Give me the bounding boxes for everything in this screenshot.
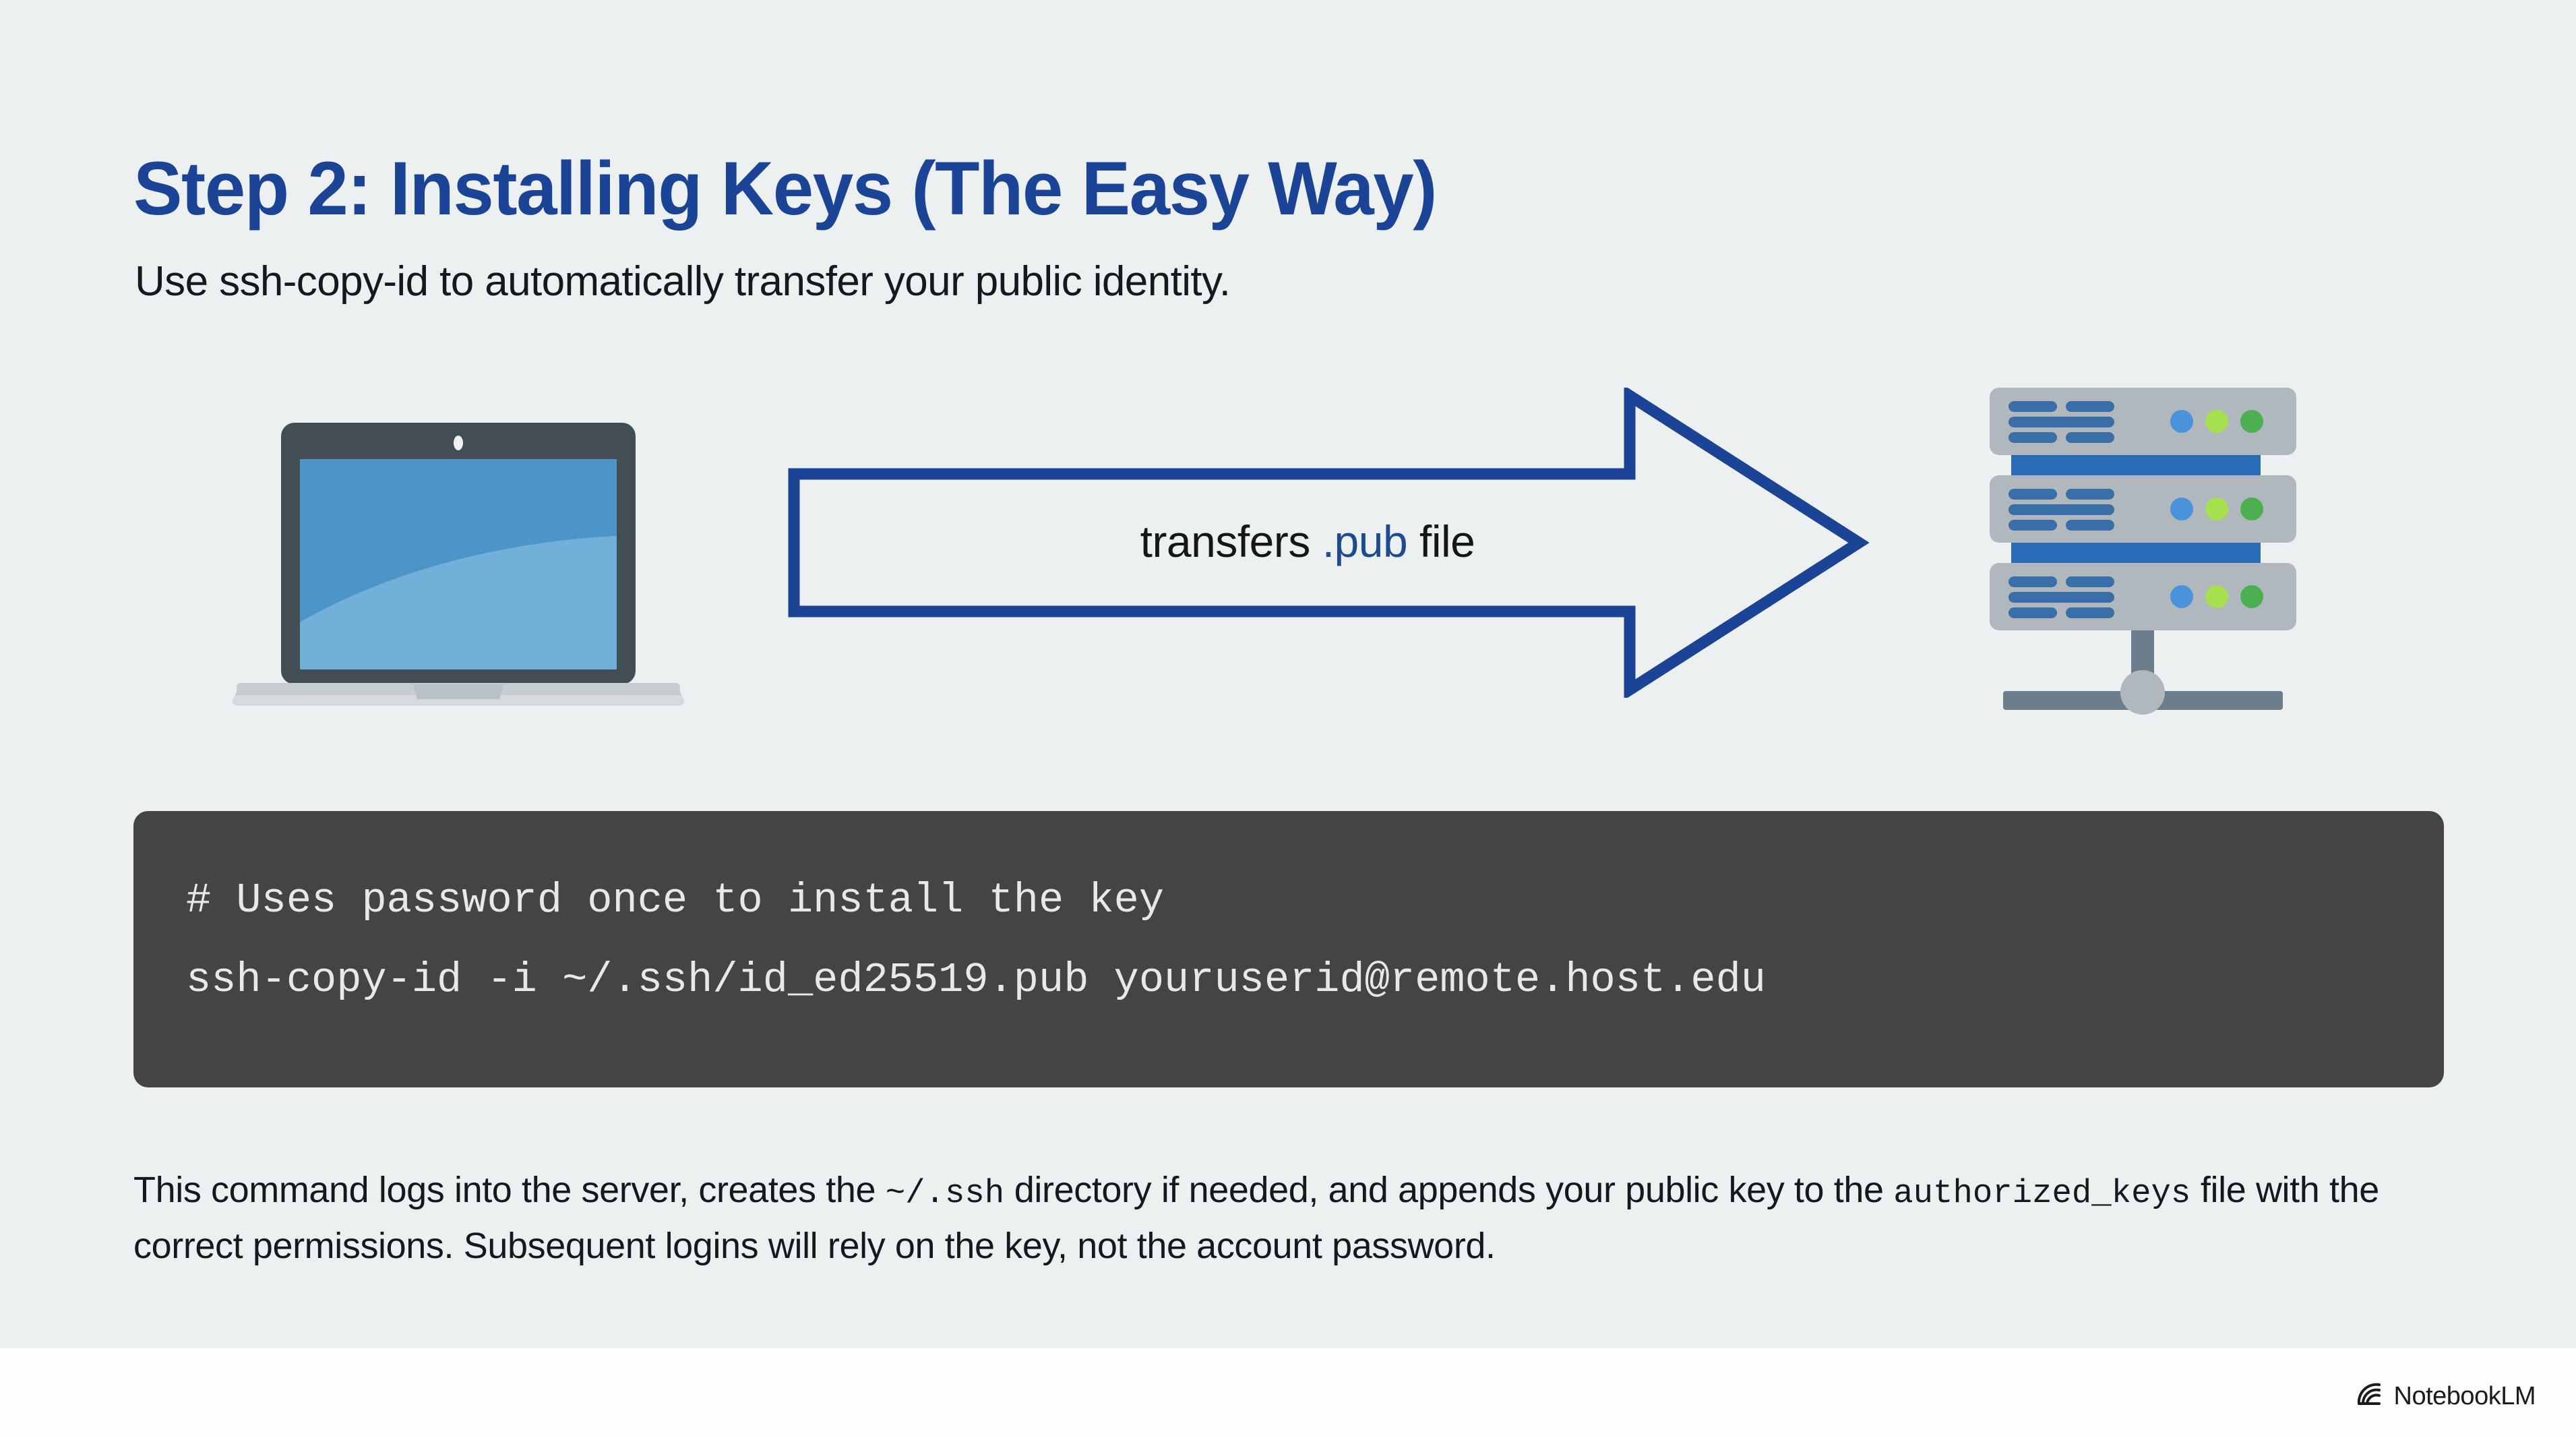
- arrow-label-suffix: file: [1407, 516, 1475, 566]
- arrow-label-prefix: transfers: [1140, 516, 1322, 566]
- inline-code-authorized-keys: authorized_keys: [1893, 1174, 2190, 1212]
- server-rack-icon: [1990, 388, 2296, 738]
- inline-code-ssh-dir: ~/.ssh: [886, 1174, 1004, 1212]
- code-line-comment: # Uses password once to install the key: [186, 861, 2444, 940]
- transfer-diagram: transfers .pub file: [0, 388, 2576, 738]
- slide-root: Step 2: Installing Keys (The Easy Way) U…: [0, 0, 2576, 1438]
- description-paragraph: This command logs into the server, creat…: [133, 1164, 2445, 1272]
- notebooklm-spiral-icon: [2356, 1381, 2385, 1412]
- slide-canvas: Step 2: Installing Keys (The Easy Way) U…: [0, 0, 2576, 1348]
- code-line-command: ssh-copy-id -i ~/.ssh/id_ed25519.pub you…: [186, 940, 2444, 1020]
- description-part-2: directory if needed, and appends your pu…: [1004, 1170, 1893, 1210]
- arrow-label: transfers .pub file: [1004, 516, 1611, 567]
- description-part-1: This command logs into the server, creat…: [133, 1170, 886, 1210]
- footer-band: [0, 1348, 2576, 1438]
- code-block: # Uses password once to install the key …: [133, 811, 2444, 1087]
- notebooklm-brand: NotebookLM: [2356, 1381, 2536, 1412]
- page-subtitle: Use ssh-copy-id to automatically transfe…: [135, 258, 1230, 305]
- arrow-label-highlight: .pub: [1322, 516, 1407, 566]
- notebooklm-brand-label: NotebookLM: [2394, 1382, 2536, 1411]
- page-title: Step 2: Installing Keys (The Easy Way): [133, 145, 1436, 232]
- laptop-icon: [233, 420, 684, 710]
